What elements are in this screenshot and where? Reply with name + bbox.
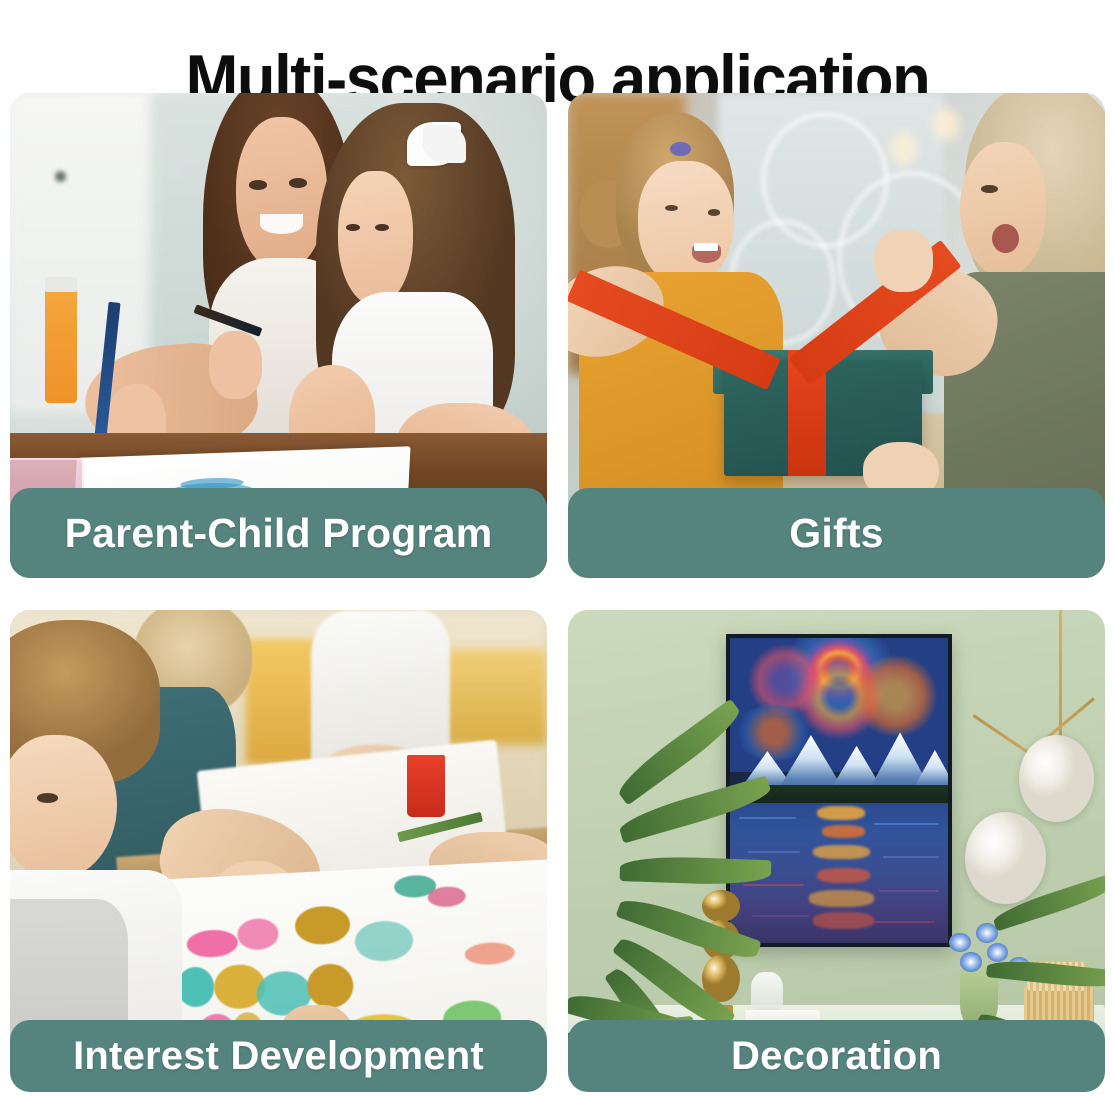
mother-eye-left	[249, 180, 267, 190]
girl-face	[338, 171, 413, 307]
scenario-card-decoration[interactable]: Decoration	[568, 610, 1105, 1092]
woman-face	[960, 142, 1046, 278]
card-caption-bar: Decoration	[568, 1020, 1105, 1092]
card-caption-bar: Gifts	[568, 488, 1105, 578]
mother-smile	[260, 214, 303, 233]
girl-eye-left	[346, 224, 360, 231]
pendant-lamp-globe-lower	[965, 812, 1046, 904]
girl-eye-left	[665, 205, 678, 211]
card-caption-bar: Parent-Child Program	[10, 488, 547, 578]
scenario-grid: Parent-Child Program	[10, 93, 1105, 1092]
woman-hand-pulling-ribbon	[874, 229, 933, 292]
woman-eye	[981, 185, 997, 193]
multi-scenario-application-page: Multi-scenario application	[0, 0, 1115, 1102]
woman-mouth	[992, 224, 1019, 253]
card-caption-bar: Interest Development	[10, 1020, 547, 1092]
mother-face	[236, 117, 327, 272]
scenario-card-interest-development[interactable]: Interest Development	[10, 610, 547, 1092]
juice-bottle	[45, 287, 77, 403]
pendant-lamp-globe-upper	[1019, 735, 1094, 822]
card-caption-text: Parent-Child Program	[65, 511, 493, 555]
juice-bottle-cap	[45, 277, 77, 292]
girl-mouth	[692, 243, 722, 262]
bokeh-light	[890, 132, 917, 166]
bokeh-light	[933, 108, 960, 142]
blue-flower	[949, 933, 970, 952]
scenario-card-parent-child-program[interactable]: Parent-Child Program	[10, 93, 547, 578]
red-cup	[407, 755, 445, 818]
girl-eye-right	[708, 209, 721, 215]
card-caption-text: Gifts	[789, 511, 883, 555]
boy-front-eye	[37, 793, 58, 803]
card-caption-text: Interest Development	[73, 1034, 484, 1078]
scenario-card-gifts[interactable]: Gifts	[568, 93, 1105, 578]
mother-hand-right	[209, 331, 263, 399]
wall-dot	[55, 171, 66, 182]
card-caption-text: Decoration	[731, 1034, 942, 1078]
mother-eye-right	[289, 178, 307, 188]
hair-bow-loop	[423, 125, 466, 164]
